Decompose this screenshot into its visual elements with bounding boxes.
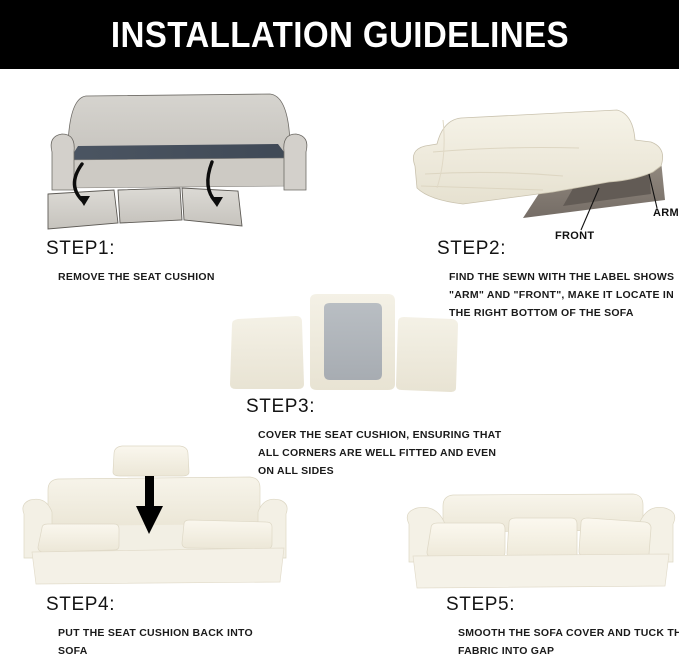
page-title: INSTALLATION GUIDELINES bbox=[110, 17, 568, 53]
step2-description-line-2: "ARM" AND "FRONT", MAKE IT LOCATE IN bbox=[449, 286, 674, 304]
arm-label: ARM bbox=[653, 207, 679, 219]
step5-illustration bbox=[403, 466, 679, 590]
step4-illustration bbox=[22, 442, 322, 590]
step5-text-block: STEP5: SMOOTH THE SOFA COVER AND TUCK TH… bbox=[446, 594, 679, 660]
seat-cushion-right bbox=[182, 520, 272, 549]
sofa-seat-rail bbox=[64, 158, 294, 188]
step2-description-line-1: FIND THE SEWN WITH THE LABEL SHOWS bbox=[449, 268, 674, 286]
sofa-arm-left bbox=[51, 134, 74, 190]
seat-cushion-right bbox=[579, 518, 651, 558]
removed-cushion-middle bbox=[118, 188, 182, 223]
sofa-base-skirt bbox=[32, 548, 284, 584]
step2-title: STEP2: bbox=[437, 238, 674, 260]
seat-cushion-left bbox=[38, 524, 119, 552]
floating-cushion bbox=[113, 446, 189, 476]
step1-illustration bbox=[40, 86, 320, 234]
step2-text-block: STEP2: FIND THE SEWN WITH THE LABEL SHOW… bbox=[437, 238, 674, 322]
installation-guidelines-page: INSTALLATION GUIDELINES bbox=[0, 0, 679, 649]
covered-cushion-right bbox=[396, 317, 458, 392]
step1-title: STEP1: bbox=[46, 238, 215, 260]
step5-title: STEP5: bbox=[446, 594, 679, 616]
step4-title: STEP4: bbox=[46, 594, 253, 616]
step5-description: SMOOTH THE SOFA COVER AND TUCK THE FABRI… bbox=[458, 624, 679, 660]
seat-cushion-middle bbox=[507, 518, 577, 558]
step3-title: STEP3: bbox=[246, 396, 501, 418]
step5-description-line-1: SMOOTH THE SOFA COVER AND TUCK THE bbox=[458, 624, 679, 642]
step5-description-line-2: FABRIC INTO GAP bbox=[458, 642, 679, 660]
seat-cushion-left bbox=[427, 523, 505, 557]
sofa-base-skirt bbox=[413, 554, 669, 588]
step4-description-line-2: SOFA bbox=[58, 642, 253, 660]
sofa-arm-right bbox=[284, 134, 307, 190]
step4-description: PUT THE SEAT CUSHION BACK INTO SOFA bbox=[58, 624, 253, 660]
step1-description: REMOVE THE SEAT CUSHION bbox=[58, 268, 215, 286]
step3-illustration bbox=[222, 292, 462, 392]
step4-text-block: STEP4: PUT THE SEAT CUSHION BACK INTO SO… bbox=[46, 594, 253, 660]
step2-description: FIND THE SEWN WITH THE LABEL SHOWS "ARM"… bbox=[449, 268, 674, 322]
cushion-inner-panel bbox=[324, 303, 382, 380]
removed-cushion-left bbox=[48, 190, 118, 229]
step2-description-line-3: THE RIGHT BOTTOM OF THE SOFA bbox=[449, 304, 674, 322]
step1-text-block: STEP1: REMOVE THE SEAT CUSHION bbox=[46, 238, 215, 286]
step1-description-line-1: REMOVE THE SEAT CUSHION bbox=[58, 268, 215, 286]
covered-cushion-left bbox=[230, 316, 304, 389]
step4-description-line-1: PUT THE SEAT CUSHION BACK INTO bbox=[58, 624, 253, 642]
step2-illustration: ARM FRONT bbox=[403, 96, 679, 238]
header-banner: INSTALLATION GUIDELINES bbox=[0, 0, 679, 69]
